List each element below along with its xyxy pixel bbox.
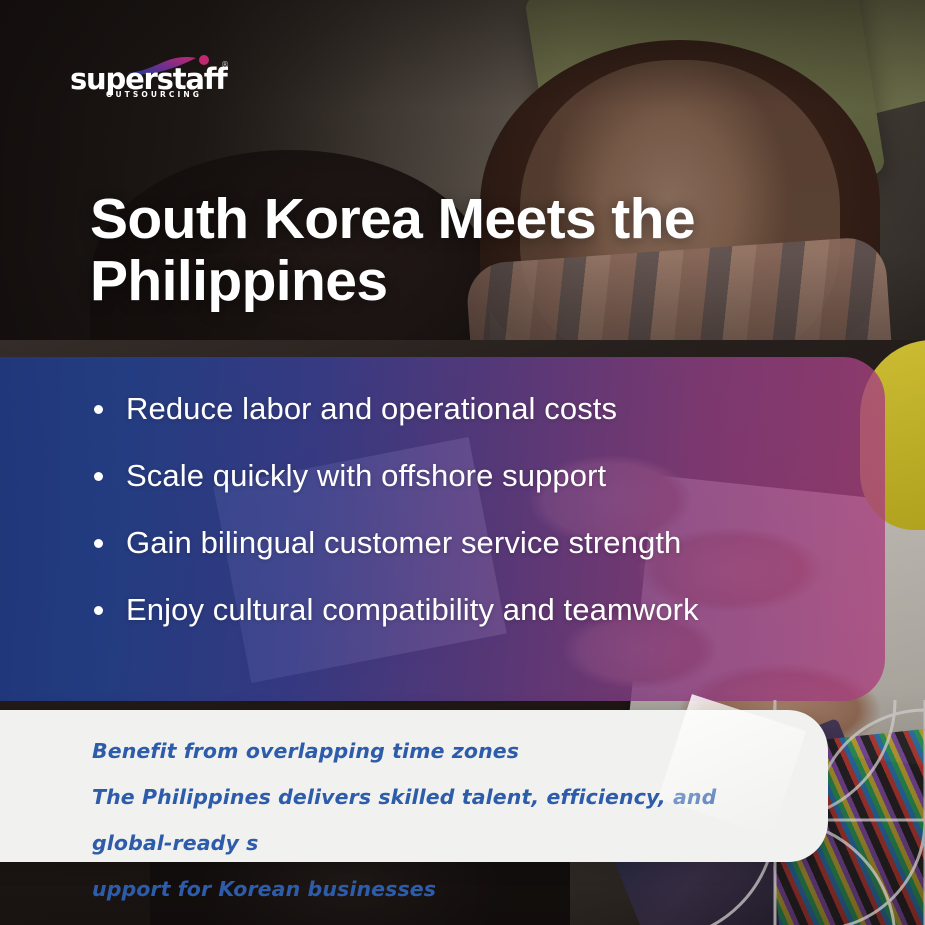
page-title: South Korea Meets the Philippines [90, 188, 790, 312]
footer-line: The Philippines delivers skilled talent,… [92, 774, 792, 866]
bullet-dot-icon [94, 472, 103, 481]
list-item-label: Enjoy cultural compatibility and teamwor… [126, 592, 699, 627]
list-item-label: Scale quickly with offshore support [126, 458, 606, 493]
list-item-label: Reduce labor and operational costs [126, 391, 617, 426]
benefits-list: Reduce labor and operational costs Scale… [90, 392, 850, 627]
footer-line: Benefit from overlapping time zones [92, 728, 792, 774]
bullet-dot-icon [94, 606, 103, 615]
list-item: Reduce labor and operational costs [90, 392, 850, 426]
list-item-label: Gain bilingual customer service strength [126, 525, 681, 560]
superstaff-logo[interactable]: superstaff OUTSOURCING ® [70, 57, 240, 101]
benefits-panel: Reduce labor and operational costs Scale… [0, 357, 885, 701]
bullet-dot-icon [94, 539, 103, 548]
logo-registered-mark: ® [221, 60, 229, 69]
bullet-dot-icon [94, 405, 103, 414]
social-card: superstaff OUTSOURCING ® South Korea Mee… [0, 0, 925, 925]
list-item: Gain bilingual customer service strength [90, 526, 850, 560]
footer-text-block: Benefit from overlapping time zones The … [92, 728, 792, 912]
footer-line: upport for Korean businesses [92, 866, 792, 912]
list-item: Enjoy cultural compatibility and teamwor… [90, 593, 850, 627]
logo-tagline: OUTSOURCING [106, 90, 202, 99]
footer-panel: Benefit from overlapping time zones The … [0, 710, 828, 862]
list-item: Scale quickly with offshore support [90, 459, 850, 493]
